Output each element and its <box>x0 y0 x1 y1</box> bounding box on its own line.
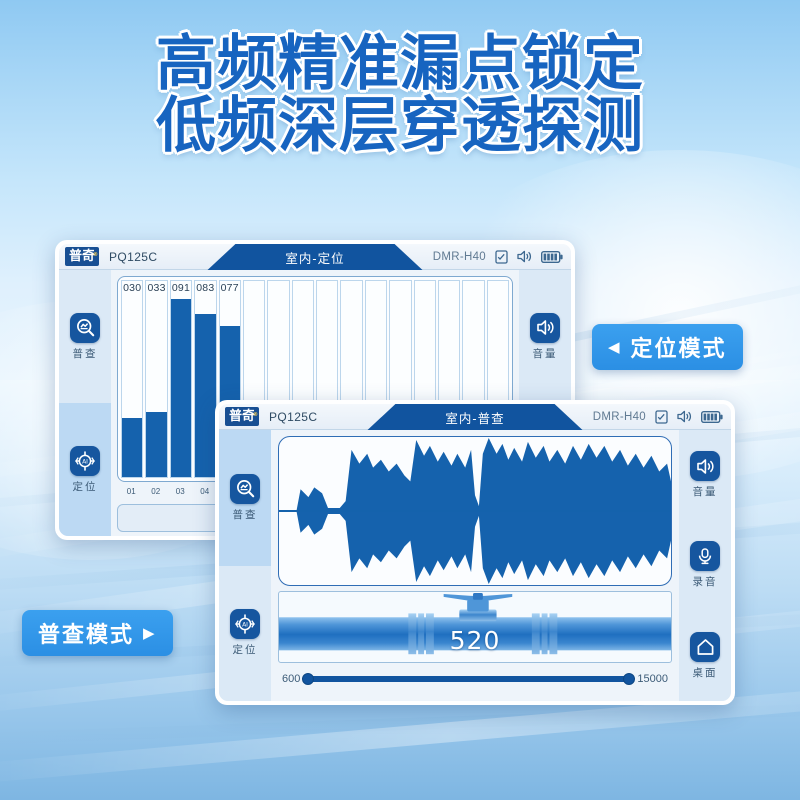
bar-value-label: 083 <box>195 282 215 294</box>
connected-device-name: DMR-H40 <box>593 411 646 423</box>
locate-target-ai-icon: AI <box>70 446 100 476</box>
brand-logo: 普奇 <box>65 247 99 266</box>
callout-survey-mode: 普查模式 ▶ <box>22 610 173 656</box>
bar-value-label: 077 <box>220 282 240 294</box>
pipe-graphic: 520 <box>278 591 672 663</box>
callout-survey-label: 普查模式 <box>38 617 134 649</box>
slider-min-label: 600 <box>282 673 300 685</box>
sidebar-item-survey-label: 普查 <box>73 346 98 361</box>
sd-card-icon[interactable] <box>495 250 508 264</box>
bar-fill <box>195 314 215 477</box>
speaker-icon <box>530 313 560 343</box>
pipe-value: 520 <box>279 626 671 655</box>
svg-text:AI: AI <box>82 458 88 465</box>
rail-left-locate: 普查 AI 定位 <box>59 270 111 536</box>
bar-fill <box>146 412 166 477</box>
sd-card-icon[interactable] <box>655 410 668 424</box>
mode-banner: 室内-普查 <box>368 404 583 430</box>
speaker-icon[interactable] <box>517 250 532 263</box>
rail-left-survey: 普查 AI 定位 <box>219 430 271 701</box>
headline-line-2: 低频深层穿透探测 <box>0 96 800 158</box>
bar-value-label: 091 <box>171 282 191 294</box>
locate-target-ai-icon: AI <box>230 609 260 639</box>
slider-knob-low[interactable] <box>302 673 314 685</box>
statusbar-right-group: DMR-H40 <box>593 410 723 424</box>
bar-column: 083 <box>194 280 216 478</box>
statusbar-locate: 普奇 PQ125C 室内-定位 DMR-H40 <box>59 244 571 270</box>
home-icon <box>690 632 720 662</box>
bar-column: 091 <box>170 280 192 478</box>
statusbar-survey: 普奇 PQ125C 室内-普查 DMR-H40 <box>219 404 731 430</box>
connected-device-name: DMR-H40 <box>433 251 486 263</box>
bar-column: 033 <box>145 280 167 478</box>
mode-banner: 室内-定位 <box>208 244 423 270</box>
page-headline: 高频精准漏点锁定 低频深层穿透探测 <box>0 34 800 158</box>
device-screen-survey: 普奇 PQ125C 室内-普查 DMR-H40 <box>215 400 735 705</box>
bar-axis-label: 02 <box>145 487 168 499</box>
record-label: 录音 <box>693 574 718 589</box>
callout-locate-mode: ◀ 定位模式 <box>592 324 743 370</box>
brand-logo: 普奇 <box>225 407 259 426</box>
battery-icon <box>701 411 723 423</box>
triangle-left-icon: ◀ <box>608 340 622 355</box>
triangle-right-icon: ▶ <box>143 626 157 641</box>
volume-label: 音量 <box>693 484 718 499</box>
survey-content-area: 520 600 15000 <box>271 430 679 701</box>
survey-magnifier-icon <box>70 313 100 343</box>
speaker-icon[interactable] <box>677 410 692 423</box>
sidebar-item-survey[interactable]: 普查 <box>219 430 271 566</box>
bar-axis-label: 04 <box>194 487 217 499</box>
svg-text:AI: AI <box>242 622 248 629</box>
speaker-icon <box>690 451 720 481</box>
sidebar-item-locate[interactable]: AI 定位 <box>59 403 111 536</box>
record-button[interactable]: 录音 <box>679 520 731 610</box>
home-button[interactable]: 桌面 <box>679 611 731 701</box>
volume-button-survey[interactable]: 音量 <box>679 430 731 520</box>
bar-fill <box>171 299 191 477</box>
sidebar-item-locate-label: 定位 <box>73 479 98 494</box>
sidebar-item-survey[interactable]: 普查 <box>59 270 111 403</box>
statusbar-right-group: DMR-H40 <box>433 250 563 264</box>
microphone-icon <box>690 541 720 571</box>
battery-icon <box>541 251 563 263</box>
bar-axis-label: 03 <box>169 487 192 499</box>
volume-button-locate[interactable]: 音量 <box>519 270 571 403</box>
bar-axis-label: 01 <box>120 487 143 499</box>
sidebar-item-survey-label: 普查 <box>233 507 258 522</box>
bar-value-label: 030 <box>122 282 142 294</box>
waveform-centerline <box>279 510 671 512</box>
slider-knob-high[interactable] <box>623 673 635 685</box>
survey-magnifier-icon <box>230 474 260 504</box>
device-model: PQ125C <box>109 250 157 264</box>
sidebar-item-locate-label: 定位 <box>233 642 258 657</box>
volume-label: 音量 <box>533 346 558 361</box>
headline-line-1: 高频精准漏点锁定 <box>0 34 800 96</box>
bar-column: 030 <box>121 280 143 478</box>
frequency-slider[interactable]: 600 15000 <box>278 668 672 690</box>
slider-max-label: 15000 <box>637 673 668 685</box>
slider-track[interactable] <box>306 676 631 682</box>
callout-locate-label: 定位模式 <box>631 331 727 363</box>
home-label: 桌面 <box>693 665 718 680</box>
rail-right-survey: 音量 录音 桌面 <box>679 430 731 701</box>
device-model: PQ125C <box>269 410 317 424</box>
bar-fill <box>122 418 142 477</box>
sidebar-item-locate[interactable]: AI 定位 <box>219 566 271 702</box>
screen-survey: 普奇 PQ125C 室内-普查 DMR-H40 <box>219 404 731 701</box>
waveform-display[interactable] <box>278 436 672 586</box>
bar-value-label: 033 <box>146 282 166 294</box>
